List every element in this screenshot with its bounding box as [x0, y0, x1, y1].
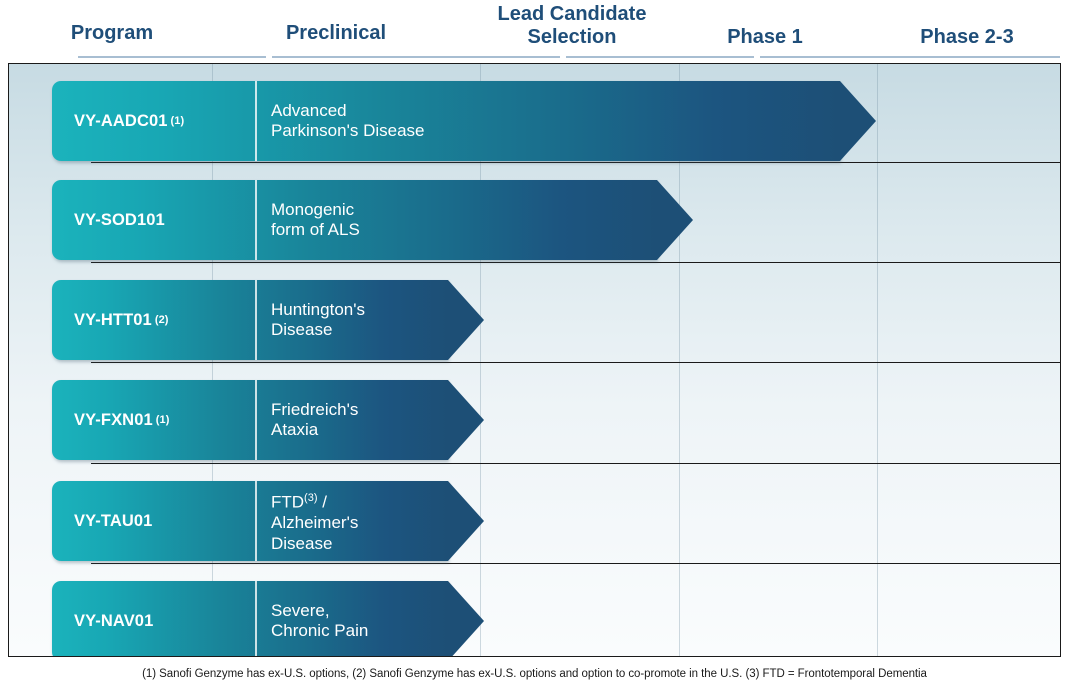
pipeline-frame: VY-AADC01(1)AdvancedParkinson's DiseaseV… — [8, 63, 1061, 657]
pipeline-row[interactable]: VY-SOD101Monogenicform of ALS — [52, 180, 693, 260]
pipeline-chart: ProgramPreclinicalLead Candidate Selecti… — [0, 0, 1069, 693]
arrow-head-icon — [657, 180, 693, 260]
program-name: VY-FXN01(1) — [52, 380, 170, 460]
indication-text: AdvancedParkinson's Disease — [271, 81, 424, 161]
pipeline-row[interactable]: VY-NAV01Severe,Chronic Pain — [52, 581, 484, 657]
program-name: VY-SOD101 — [52, 180, 165, 260]
arrow-head-icon — [448, 581, 484, 657]
indication-line: Severe, — [271, 601, 368, 622]
column-header-preclinical: Preclinical — [236, 22, 436, 45]
indication-line: Chronic Pain — [271, 621, 368, 642]
indication-line: Huntington's — [271, 300, 365, 321]
indication-line: Disease — [271, 534, 358, 555]
pipeline-row[interactable]: VY-AADC01(1)AdvancedParkinson's Disease — [52, 81, 876, 161]
program-indication-divider — [255, 581, 257, 657]
indication-text: Monogenicform of ALS — [271, 180, 360, 260]
row-divider — [91, 262, 1061, 263]
program-indication-divider — [255, 481, 257, 561]
program-name: VY-TAU01 — [52, 481, 152, 561]
program-name: VY-HTT01(2) — [52, 280, 169, 360]
indication-line: Advanced — [271, 101, 424, 122]
program-footnote-marker: (1) — [168, 115, 185, 127]
program-name: VY-AADC01(1) — [52, 81, 184, 161]
indication-line: Monogenic — [271, 200, 360, 221]
column-header-program: Program — [22, 22, 202, 45]
column-header-phase-1: Phase 1 — [675, 26, 855, 49]
row-divider — [91, 463, 1061, 464]
program-footnote-marker: (2) — [152, 314, 169, 326]
header-underline — [272, 56, 560, 58]
arrow-head-icon — [840, 81, 876, 161]
program-name: VY-NAV01 — [52, 581, 153, 657]
indication-line: form of ALS — [271, 220, 360, 241]
indication-text: Friedreich'sAtaxia — [271, 380, 358, 460]
column-header-row: ProgramPreclinicalLead Candidate Selecti… — [0, 0, 1069, 58]
indication-text: Huntington'sDisease — [271, 280, 365, 360]
arrow-head-icon — [448, 380, 484, 460]
footnote-text: (1) Sanofi Genzyme has ex-U.S. options, … — [0, 668, 1069, 680]
pipeline-row[interactable]: VY-TAU01FTD(3) /Alzheimer'sDisease — [52, 481, 484, 561]
program-indication-divider — [255, 180, 257, 260]
pipeline-row[interactable]: VY-FXN01(1)Friedreich'sAtaxia — [52, 380, 484, 460]
pipeline-row[interactable]: VY-HTT01(2)Huntington'sDisease — [52, 280, 484, 360]
arrow-head-icon — [448, 280, 484, 360]
column-header-phase-2-3: Phase 2-3 — [877, 26, 1057, 49]
indication-text: Severe,Chronic Pain — [271, 581, 368, 657]
row-divider — [91, 162, 1061, 163]
arrow-head-icon — [448, 481, 484, 561]
header-underline — [78, 56, 266, 58]
column-header-lead-candidate-selection: Lead Candidate Selection — [467, 3, 677, 49]
program-indication-divider — [255, 81, 257, 161]
indication-line: Alzheimer's — [271, 513, 358, 534]
indication-line: FTD(3) / — [271, 488, 358, 513]
row-divider — [91, 362, 1061, 363]
program-footnote-marker: (1) — [153, 414, 170, 426]
indication-line: Ataxia — [271, 420, 358, 441]
indication-line: Parkinson's Disease — [271, 121, 424, 142]
program-indication-divider — [255, 280, 257, 360]
program-indication-divider — [255, 380, 257, 460]
indication-footnote-marker: (3) — [304, 492, 317, 504]
header-underline — [880, 56, 1060, 58]
indication-line: Friedreich's — [271, 400, 358, 421]
stage-divider — [877, 64, 878, 656]
row-divider — [91, 563, 1061, 564]
header-underline — [566, 56, 754, 58]
indication-line: Disease — [271, 320, 365, 341]
indication-text: FTD(3) /Alzheimer'sDisease — [271, 481, 358, 561]
